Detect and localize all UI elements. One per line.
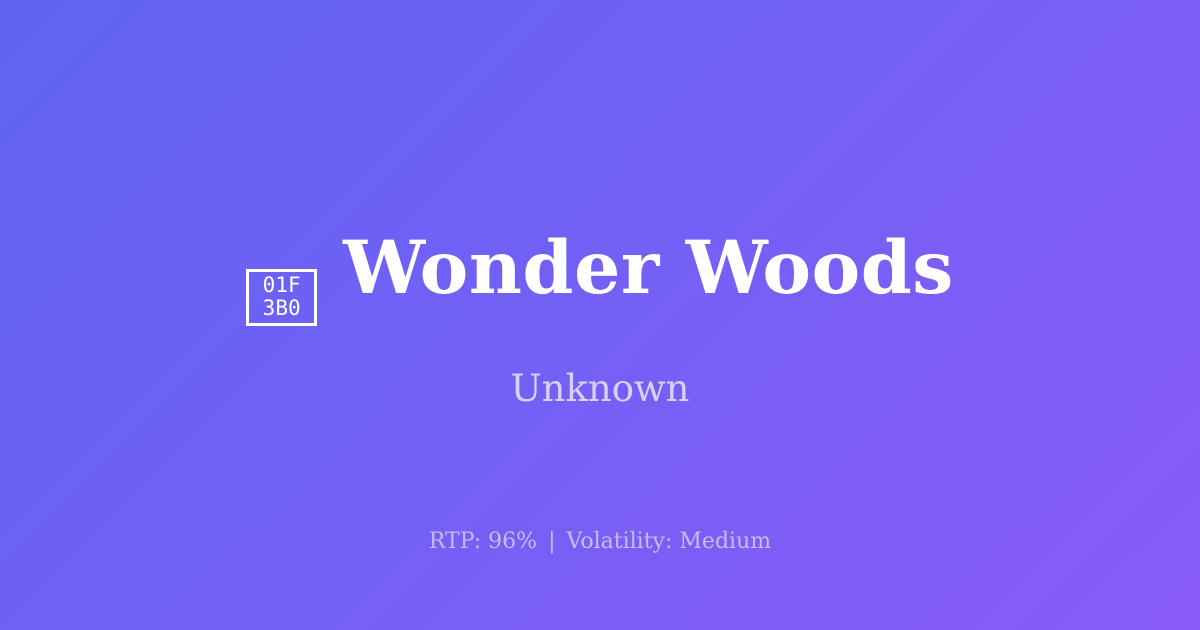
provider-subtitle: Unknown: [510, 369, 689, 409]
og-card: 01F 3B0 Wonder Woods Unknown RTP: 96% | …: [0, 0, 1200, 630]
slot-machine-icon-codepoint-top: 01F: [263, 274, 301, 297]
title-row: 01F 3B0 Wonder Woods: [246, 232, 954, 327]
game-stats-line: RTP: 96% | Volatility: Medium: [0, 529, 1200, 555]
rtp-label: RTP:: [429, 529, 481, 554]
rtp-value: 96%: [488, 529, 537, 554]
volatility-label: Volatility:: [567, 529, 673, 554]
hero-block: 01F 3B0 Wonder Woods Unknown: [0, 232, 1200, 409]
slot-machine-icon-codepoint-bottom: 3B0: [263, 297, 301, 320]
volatility-value: Medium: [679, 529, 771, 554]
page-title: Wonder Woods: [343, 232, 954, 305]
slot-machine-icon: 01F 3B0: [246, 269, 317, 326]
stats-separator: |: [544, 529, 559, 554]
